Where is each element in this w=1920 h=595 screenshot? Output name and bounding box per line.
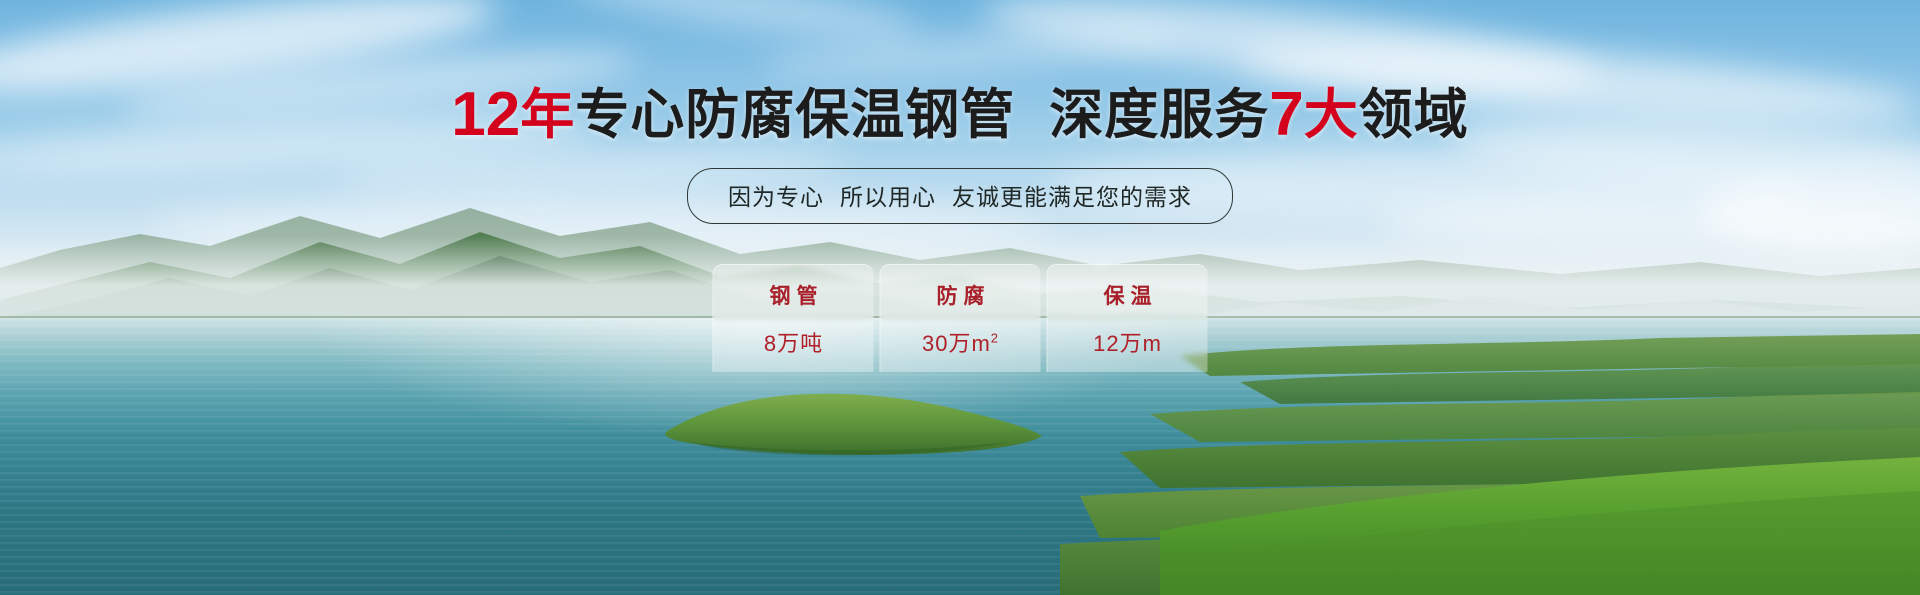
subtitle-pill: 因为专心所以用心友诚更能满足您的需求 <box>687 168 1233 224</box>
stat-card-label: 保温 <box>1098 280 1158 310</box>
stat-value-text: 30万m <box>922 331 991 356</box>
subtitle-part-2: 所以用心 <box>840 184 936 210</box>
stat-card: 保温 12万m <box>1047 264 1208 372</box>
stat-card-group: 钢管 8万吨 防腐 30万m2 保温 12万m <box>713 264 1208 372</box>
headline-years-number: 12 <box>451 80 520 149</box>
stat-value-superscript: 2 <box>991 330 999 345</box>
stat-card-value: 8万吨 <box>764 326 823 358</box>
headline-segment-two-prefix: 深度服务 <box>1049 85 1269 145</box>
headline: 12年专心防腐保温钢管深度服务7大领域 <box>0 84 1920 146</box>
stat-card-label: 钢管 <box>764 280 824 310</box>
stat-value-text: 12万m <box>1093 331 1162 356</box>
stat-card: 防腐 30万m2 <box>880 264 1041 372</box>
headline-segment-two-suffix: 领域 <box>1359 85 1469 145</box>
subtitle-part-3: 友诚更能满足您的需求 <box>952 184 1192 210</box>
stat-value-text: 8万吨 <box>764 331 823 356</box>
stat-card-value: 30万m2 <box>922 326 999 358</box>
subtitle-part-1: 因为专心 <box>728 184 824 210</box>
headline-segment-one: 专心防腐保温钢管 <box>575 85 1015 145</box>
stat-card-value: 12万m <box>1093 326 1162 358</box>
headline-fields-number: 7 <box>1269 80 1303 149</box>
banner-content: 12年专心防腐保温钢管深度服务7大领域 因为专心所以用心友诚更能满足您的需求 钢… <box>0 0 1920 595</box>
hero-banner: 12年专心防腐保温钢管深度服务7大领域 因为专心所以用心友诚更能满足您的需求 钢… <box>0 0 1920 595</box>
headline-fields-unit: 大 <box>1304 85 1359 145</box>
headline-years-unit: 年 <box>520 85 575 145</box>
stat-card-label: 防腐 <box>931 280 991 310</box>
stat-card: 钢管 8万吨 <box>713 264 874 372</box>
